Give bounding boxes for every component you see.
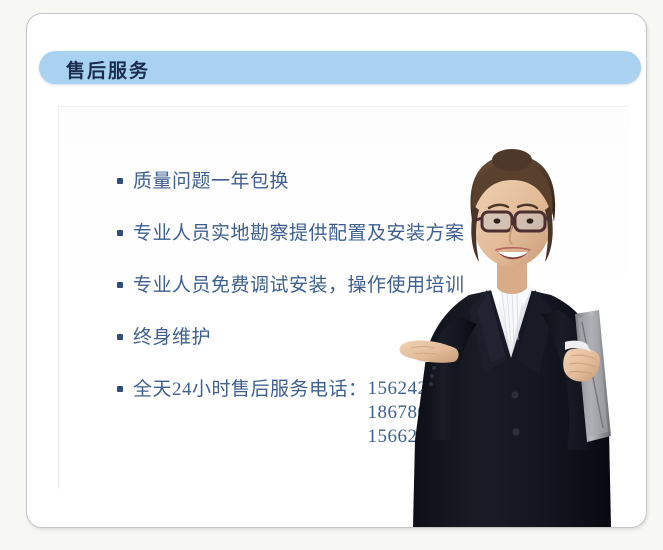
square-bullet-icon	[117, 386, 123, 392]
square-bullet-icon	[117, 230, 123, 236]
list-item-label: 终身维护	[133, 327, 211, 348]
square-bullet-icon	[117, 282, 123, 288]
slide-card: 售后服务 质量问题一年包换 专业人员实地勘察提供配置及安装方案 专业人员免费调试…	[26, 13, 647, 528]
square-bullet-icon	[117, 334, 123, 340]
service-phone-label: 全天24小时售后服务电话：	[133, 379, 368, 400]
businesswoman-photo	[399, 110, 647, 527]
list-item-label: 质量问题一年包换	[133, 171, 289, 192]
slide-root: 售后服务 质量问题一年包换 专业人员实地勘察提供配置及安装方案 专业人员免费调试…	[0, 0, 663, 550]
page-title: 售后服务	[66, 56, 150, 83]
square-bullet-icon	[117, 178, 123, 184]
title-bar: 售后服务	[39, 51, 641, 84]
